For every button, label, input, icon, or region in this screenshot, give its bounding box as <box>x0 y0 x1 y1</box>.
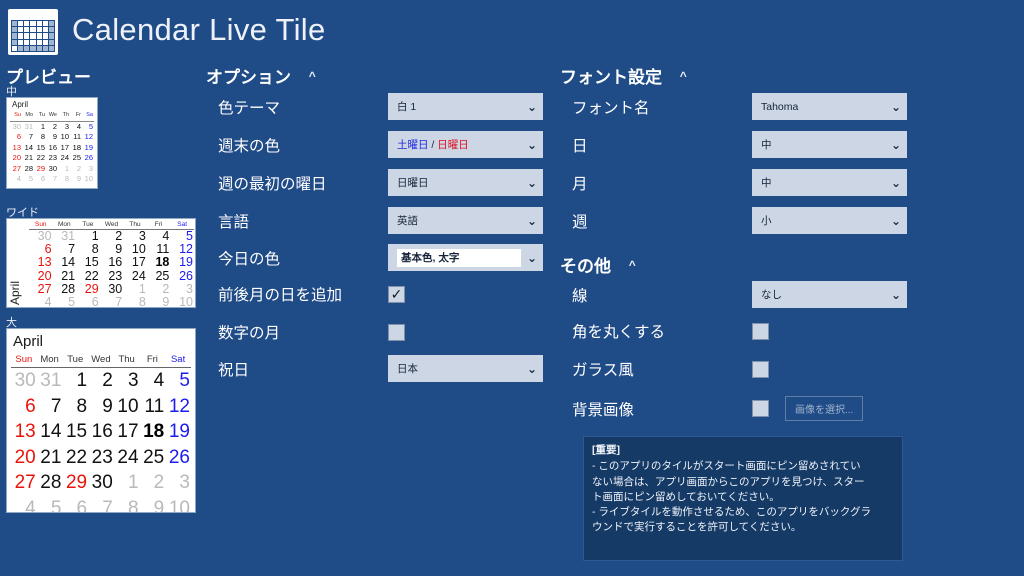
calendar-day-cell: 10 <box>165 496 191 514</box>
label-first-day-of-week: 週の最初の曜日 <box>218 172 388 194</box>
other-heading-label: その他 <box>560 257 611 276</box>
calendar-day-cell: 20 <box>10 153 22 164</box>
calendar-icon <box>8 9 58 55</box>
row-today-color: 今日の色 基本色, 太字 ⌄ <box>218 244 543 271</box>
dropdown-color-theme-value: 白 1 <box>397 99 523 114</box>
calendar-day-cell: 5 <box>22 174 34 185</box>
checkbox-add-adjacent-days[interactable]: ✓ <box>388 286 405 303</box>
chevron-down-icon: ⌄ <box>527 251 537 265</box>
dropdown-font-size-month-value: 中 <box>761 175 887 190</box>
chevron-up-icon[interactable]: ^ <box>680 69 687 83</box>
calendar-day-cell: 18 <box>147 256 171 269</box>
row-font-size-day: 日 中 ⌄ <box>572 131 907 158</box>
notice-line-5: ウンドで実行することを許可してください。 <box>592 520 894 535</box>
calendar-day-cell: 6 <box>76 296 100 308</box>
calendar-day-cell: 6 <box>62 496 88 514</box>
notice-line-4: - ライブタイルを動作させるため、このアプリをバックグラ <box>592 505 894 520</box>
checkbox-glass-effect[interactable]: ✓ <box>752 361 769 378</box>
calendar-day-cell: 17 <box>123 256 147 269</box>
weekday-header: Tu <box>34 110 46 121</box>
calendar-day-cell: 18 <box>140 419 166 445</box>
row-font-size-week: 週 小 ⌄ <box>572 207 907 234</box>
dropdown-color-theme[interactable]: 白 1 ⌄ <box>388 93 543 120</box>
weekday-header: Tue <box>62 352 88 368</box>
weekend-separator: / <box>429 139 438 151</box>
calendar-day-cell: 1 <box>34 121 46 132</box>
calendar-day-cell: 14 <box>22 143 34 154</box>
calendar-day-cell: 10 <box>114 394 140 420</box>
label-holidays: 祝日 <box>218 358 388 380</box>
calendar-week-row: 45678910 <box>10 174 94 185</box>
chevron-up-icon[interactable]: ^ <box>309 69 316 83</box>
calendar-day-cell: 1 <box>76 230 100 244</box>
tile-calendar-grid: SuMoTuWeThFrSa30311234567891011121314151… <box>10 110 94 185</box>
calendar-day-cell: 28 <box>22 164 34 175</box>
weekday-header: Sat <box>165 352 191 368</box>
weekday-header: Fri <box>140 352 166 368</box>
other-heading[interactable]: その他 ^ <box>560 252 636 277</box>
calendar-day-cell: 21 <box>22 153 34 164</box>
label-font-size-day: 日 <box>572 134 752 156</box>
weekday-header: Mon <box>37 352 63 368</box>
label-line-style: 線 <box>572 284 752 306</box>
dropdown-language[interactable]: 英語 ⌄ <box>388 207 543 234</box>
calendar-day-cell: 13 <box>29 256 53 269</box>
calendar-week-row: 45678910 <box>29 296 194 308</box>
row-font-name: フォント名 Tahoma ⌄ <box>572 93 907 120</box>
calendar-day-cell: 5 <box>82 121 94 132</box>
calendar-day-cell: 9 <box>88 394 114 420</box>
label-font-size-week: 週 <box>572 210 752 232</box>
select-image-button[interactable]: 画像を選択... <box>785 396 863 421</box>
calendar-day-cell: 1 <box>114 470 140 496</box>
calendar-week-row: 27282930123 <box>11 470 191 496</box>
calendar-day-cell: 8 <box>123 296 147 308</box>
calendar-day-cell: 13 <box>11 419 37 445</box>
dropdown-font-size-week[interactable]: 小 ⌄ <box>752 207 907 234</box>
calendar-day-cell: 10 <box>82 174 94 185</box>
calendar-week-row: 20212223242526 <box>11 445 191 471</box>
row-glass-effect: ガラス風 ✓ <box>572 358 769 380</box>
calendar-day-cell: 25 <box>70 153 82 164</box>
dropdown-line-style-value: なし <box>761 287 887 302</box>
calendar-day-cell: 24 <box>114 445 140 471</box>
calendar-day-cell: 4 <box>11 496 37 514</box>
calendar-day-cell: 16 <box>100 256 124 269</box>
calendar-day-cell: 6 <box>11 394 37 420</box>
calendar-day-cell: 9 <box>140 496 166 514</box>
calendar-week-row: 20212223242526 <box>10 153 94 164</box>
chevron-down-icon: ⌄ <box>527 214 537 228</box>
calendar-day-cell: 1 <box>58 164 70 175</box>
calendar-day-cell: 18 <box>70 143 82 154</box>
preview-tile-medium[interactable]: April SuMoTuWeThFrSa30311234567891011121… <box>6 97 98 189</box>
calendar-day-cell: 7 <box>46 174 58 185</box>
calendar-day-cell: 12 <box>82 132 94 143</box>
calendar-day-cell: 17 <box>114 419 140 445</box>
tile-month-name: April <box>10 100 94 110</box>
calendar-day-cell: 31 <box>22 121 34 132</box>
notice-line-2: ない場合は、アプリ画面からこのアプリを見つけ、スター <box>592 475 894 490</box>
checkbox-background-image[interactable]: ✓ <box>752 400 769 417</box>
calendar-day-cell: 7 <box>22 132 34 143</box>
calendar-day-cell: 7 <box>88 496 114 514</box>
weekend-saturday-text: 土曜日 <box>397 139 429 151</box>
dropdown-line-style[interactable]: なし ⌄ <box>752 281 907 308</box>
calendar-day-cell: 26 <box>170 270 194 283</box>
page-title: Calendar Live Tile <box>72 12 326 48</box>
calendar-day-cell: 9 <box>147 296 171 308</box>
row-background-image: 背景画像 ✓ 画像を選択... <box>572 396 863 421</box>
weekday-header: Su <box>10 110 22 121</box>
weekday-header: Sa <box>82 110 94 121</box>
dropdown-today-color-value: 基本色, 太字 <box>397 249 521 267</box>
calendar-day-cell: 5 <box>53 296 77 308</box>
calendar-day-cell: 3 <box>165 470 191 496</box>
calendar-day-cell: 19 <box>82 143 94 154</box>
calendar-day-cell: 20 <box>11 445 37 471</box>
label-font-name: フォント名 <box>572 96 752 118</box>
calendar-week-row: 45678910 <box>11 496 191 514</box>
dropdown-font-size-day[interactable]: 中 ⌄ <box>752 131 907 158</box>
calendar-day-cell: 23 <box>100 270 124 283</box>
calendar-day-cell: 3 <box>114 368 140 394</box>
calendar-week-row: 6789101112 <box>11 394 191 420</box>
calendar-day-cell: 20 <box>29 270 53 283</box>
calendar-week-row: 13141516171819 <box>11 419 191 445</box>
label-color-theme: 色テーマ <box>218 96 388 118</box>
calendar-day-cell: 8 <box>58 174 70 185</box>
chevron-down-icon: ⌄ <box>891 176 901 190</box>
row-rounded-corners: 角を丸くする ✓ <box>572 320 769 342</box>
calendar-day-cell: 22 <box>34 153 46 164</box>
calendar-day-cell: 31 <box>53 230 77 244</box>
calendar-day-cell: 6 <box>10 132 22 143</box>
calendar-day-cell: 15 <box>62 419 88 445</box>
calendar-day-cell: 24 <box>58 153 70 164</box>
calendar-day-cell: 30 <box>46 164 58 175</box>
calendar-day-cell: 29 <box>34 164 46 175</box>
label-background-image: 背景画像 <box>572 398 752 420</box>
calendar-day-cell: 24 <box>123 270 147 283</box>
dropdown-first-day-of-week[interactable]: 日曜日 ⌄ <box>388 169 543 196</box>
chevron-up-icon[interactable]: ^ <box>629 258 636 272</box>
label-add-adjacent-days: 前後月の日を追加 <box>218 283 388 305</box>
calendar-day-cell: 11 <box>140 394 166 420</box>
weekday-header: We <box>46 110 58 121</box>
calendar-day-cell: 7 <box>100 296 124 308</box>
weekday-header: Mo <box>22 110 34 121</box>
weekday-header: Th <box>58 110 70 121</box>
calendar-day-cell: 30 <box>29 230 53 244</box>
calendar-day-cell: 10 <box>170 296 194 308</box>
calendar-day-cell: 22 <box>62 445 88 471</box>
weekday-header: Wed <box>88 352 114 368</box>
calendar-day-cell: 2 <box>70 164 82 175</box>
row-color-theme: 色テーマ 白 1 ⌄ <box>218 93 543 120</box>
dropdown-weekend-color-value: 土曜日 / 日曜日 <box>397 137 523 152</box>
calendar-day-cell: 30 <box>88 470 114 496</box>
preview-heading-label: プレビュー <box>6 68 91 87</box>
chevron-down-icon: ⌄ <box>527 362 537 376</box>
important-notice: [重要] - このアプリのタイルがスタート画面にピン留めされてい ない場合は、ア… <box>583 436 903 561</box>
chevron-down-icon: ⌄ <box>527 100 537 114</box>
app-header: Calendar Live Tile <box>0 0 1024 62</box>
calendar-week-row: 303112345 <box>11 368 191 394</box>
chevron-down-icon: ⌄ <box>891 214 901 228</box>
calendar-day-cell: 28 <box>37 470 63 496</box>
calendar-day-cell: 9 <box>70 174 82 185</box>
row-numeric-month: 数字の月 ✓ <box>218 321 405 343</box>
label-numeric-month: 数字の月 <box>218 321 388 343</box>
tile-month-name: April <box>11 331 191 352</box>
font-settings-heading[interactable]: フォント設定 ^ <box>560 63 687 88</box>
row-language: 言語 英語 ⌄ <box>218 207 543 234</box>
label-font-size-month: 月 <box>572 172 752 194</box>
font-settings-heading-label: フォント設定 <box>560 68 662 87</box>
row-weekend-color: 週末の色 土曜日 / 日曜日 ⌄ <box>218 131 543 158</box>
notice-title: [重要] <box>592 443 894 458</box>
calendar-day-cell: 19 <box>165 419 191 445</box>
calendar-day-cell: 30 <box>10 121 22 132</box>
calendar-week-row: 6789101112 <box>10 132 94 143</box>
calendar-week-row: 27282930123 <box>29 283 194 296</box>
weekend-sunday-text: 日曜日 <box>437 139 469 151</box>
calendar-week-row: 20212223242526 <box>29 270 194 283</box>
preview-tile-large[interactable]: April SunMonTueWedThuFriSat3031123456789… <box>6 328 196 513</box>
calendar-day-cell: 10 <box>58 132 70 143</box>
label-language: 言語 <box>218 210 388 232</box>
calendar-day-cell: 14 <box>53 256 77 269</box>
checkbox-numeric-month[interactable]: ✓ <box>388 324 405 341</box>
calendar-day-cell: 29 <box>62 470 88 496</box>
tile-calendar-grid: SunMonTueWedThuFriSat3031123456789101112… <box>11 352 191 513</box>
calendar-day-cell: 25 <box>140 445 166 471</box>
options-heading[interactable]: オプション ^ <box>206 63 316 88</box>
calendar-day-cell: 21 <box>53 270 77 283</box>
preview-tile-wide[interactable]: April SunMonTueWedThuFriSat3031123456789… <box>6 218 196 308</box>
row-add-adjacent-days: 前後月の日を追加 ✓ <box>218 283 405 305</box>
checkbox-rounded-corners[interactable]: ✓ <box>752 323 769 340</box>
label-rounded-corners: 角を丸くする <box>572 320 752 342</box>
notice-line-3: ト画面にピン留めしておいてください。 <box>592 490 894 505</box>
dropdown-font-name[interactable]: Tahoma ⌄ <box>752 93 907 120</box>
calendar-day-cell: 26 <box>82 153 94 164</box>
row-first-day-of-week: 週の最初の曜日 日曜日 ⌄ <box>218 169 543 196</box>
calendar-day-cell: 5 <box>170 230 194 244</box>
calendar-week-row: 303112345 <box>10 121 94 132</box>
calendar-day-cell: 5 <box>37 496 63 514</box>
calendar-day-cell: 30 <box>11 368 37 394</box>
calendar-day-cell: 4 <box>10 174 22 185</box>
calendar-day-cell: 4 <box>70 121 82 132</box>
calendar-day-cell: 23 <box>46 153 58 164</box>
calendar-icon-header <box>11 13 55 20</box>
calendar-day-cell: 1 <box>62 368 88 394</box>
weekday-header: Fr <box>70 110 82 121</box>
calendar-day-cell: 2 <box>88 368 114 394</box>
calendar-day-cell: 6 <box>34 174 46 185</box>
notice-line-1: - このアプリのタイルがスタート画面にピン留めされてい <box>592 459 894 474</box>
calendar-day-cell: 21 <box>37 445 63 471</box>
dropdown-font-size-day-value: 中 <box>761 137 887 152</box>
calendar-day-cell: 27 <box>10 164 22 175</box>
chevron-down-icon: ⌄ <box>891 138 901 152</box>
calendar-week-row: 13141516171819 <box>10 143 94 154</box>
calendar-day-cell: 3 <box>82 164 94 175</box>
label-weekend-color: 週末の色 <box>218 134 388 156</box>
chevron-down-icon: ⌄ <box>527 138 537 152</box>
label-today-color: 今日の色 <box>218 247 388 269</box>
dropdown-weekend-color[interactable]: 土曜日 / 日曜日 ⌄ <box>388 131 543 158</box>
calendar-day-cell: 3 <box>58 121 70 132</box>
calendar-day-cell: 17 <box>58 143 70 154</box>
calendar-day-cell: 2 <box>100 230 124 244</box>
dropdown-first-day-of-week-value: 日曜日 <box>397 175 523 190</box>
calendar-day-cell: 15 <box>34 143 46 154</box>
preview-heading: プレビュー <box>6 63 91 88</box>
label-glass-effect: ガラス風 <box>572 358 752 380</box>
dropdown-today-color[interactable]: 基本色, 太字 ⌄ <box>388 244 543 271</box>
calendar-day-cell: 4 <box>147 230 171 244</box>
dropdown-holidays-value: 日本 <box>397 361 523 376</box>
calendar-week-row: 303112345 <box>29 230 194 244</box>
calendar-day-cell: 14 <box>37 419 63 445</box>
options-heading-label: オプション <box>206 68 291 87</box>
calendar-day-cell: 16 <box>88 419 114 445</box>
weekday-header: Thu <box>114 352 140 368</box>
chevron-down-icon: ⌄ <box>527 176 537 190</box>
row-font-size-month: 月 中 ⌄ <box>572 169 907 196</box>
calendar-day-cell: 8 <box>62 394 88 420</box>
dropdown-font-size-week-value: 小 <box>761 213 887 228</box>
dropdown-holidays[interactable]: 日本 ⌄ <box>388 355 543 382</box>
tile-calendar-grid: SunMonTueWedThuFriSat3031123456789101112… <box>29 220 194 308</box>
calendar-day-cell: 15 <box>76 256 100 269</box>
dropdown-language-value: 英語 <box>397 213 523 228</box>
calendar-day-cell: 8 <box>34 132 46 143</box>
calendar-day-cell: 23 <box>88 445 114 471</box>
dropdown-font-name-value: Tahoma <box>761 101 887 113</box>
row-line-style: 線 なし ⌄ <box>572 281 907 308</box>
calendar-day-cell: 22 <box>76 270 100 283</box>
calendar-day-cell: 13 <box>10 143 22 154</box>
calendar-day-cell: 19 <box>170 256 194 269</box>
calendar-day-cell: 5 <box>165 368 191 394</box>
calendar-week-row: 13141516171819 <box>29 256 194 269</box>
calendar-day-cell: 26 <box>165 445 191 471</box>
chevron-down-icon: ⌄ <box>891 288 901 302</box>
chevron-down-icon: ⌄ <box>891 100 901 114</box>
calendar-day-cell: 2 <box>140 470 166 496</box>
calendar-day-cell: 9 <box>46 132 58 143</box>
calendar-day-cell: 12 <box>165 394 191 420</box>
calendar-day-cell: 8 <box>114 496 140 514</box>
calendar-day-cell: 16 <box>46 143 58 154</box>
calendar-day-cell: 3 <box>123 230 147 244</box>
calendar-week-row: 27282930123 <box>10 164 94 175</box>
weekday-header: Sun <box>11 352 37 368</box>
tile-month-name: April <box>8 281 22 305</box>
calendar-day-cell: 11 <box>70 132 82 143</box>
dropdown-font-size-month[interactable]: 中 ⌄ <box>752 169 907 196</box>
row-holidays: 祝日 日本 ⌄ <box>218 355 543 382</box>
calendar-day-cell: 27 <box>11 470 37 496</box>
calendar-day-cell: 4 <box>140 368 166 394</box>
calendar-day-cell: 2 <box>46 121 58 132</box>
calendar-day-cell: 7 <box>37 394 63 420</box>
calendar-icon-grid <box>11 20 55 52</box>
calendar-day-cell: 31 <box>37 368 63 394</box>
calendar-day-cell: 4 <box>29 296 53 308</box>
calendar-day-cell: 25 <box>147 270 171 283</box>
